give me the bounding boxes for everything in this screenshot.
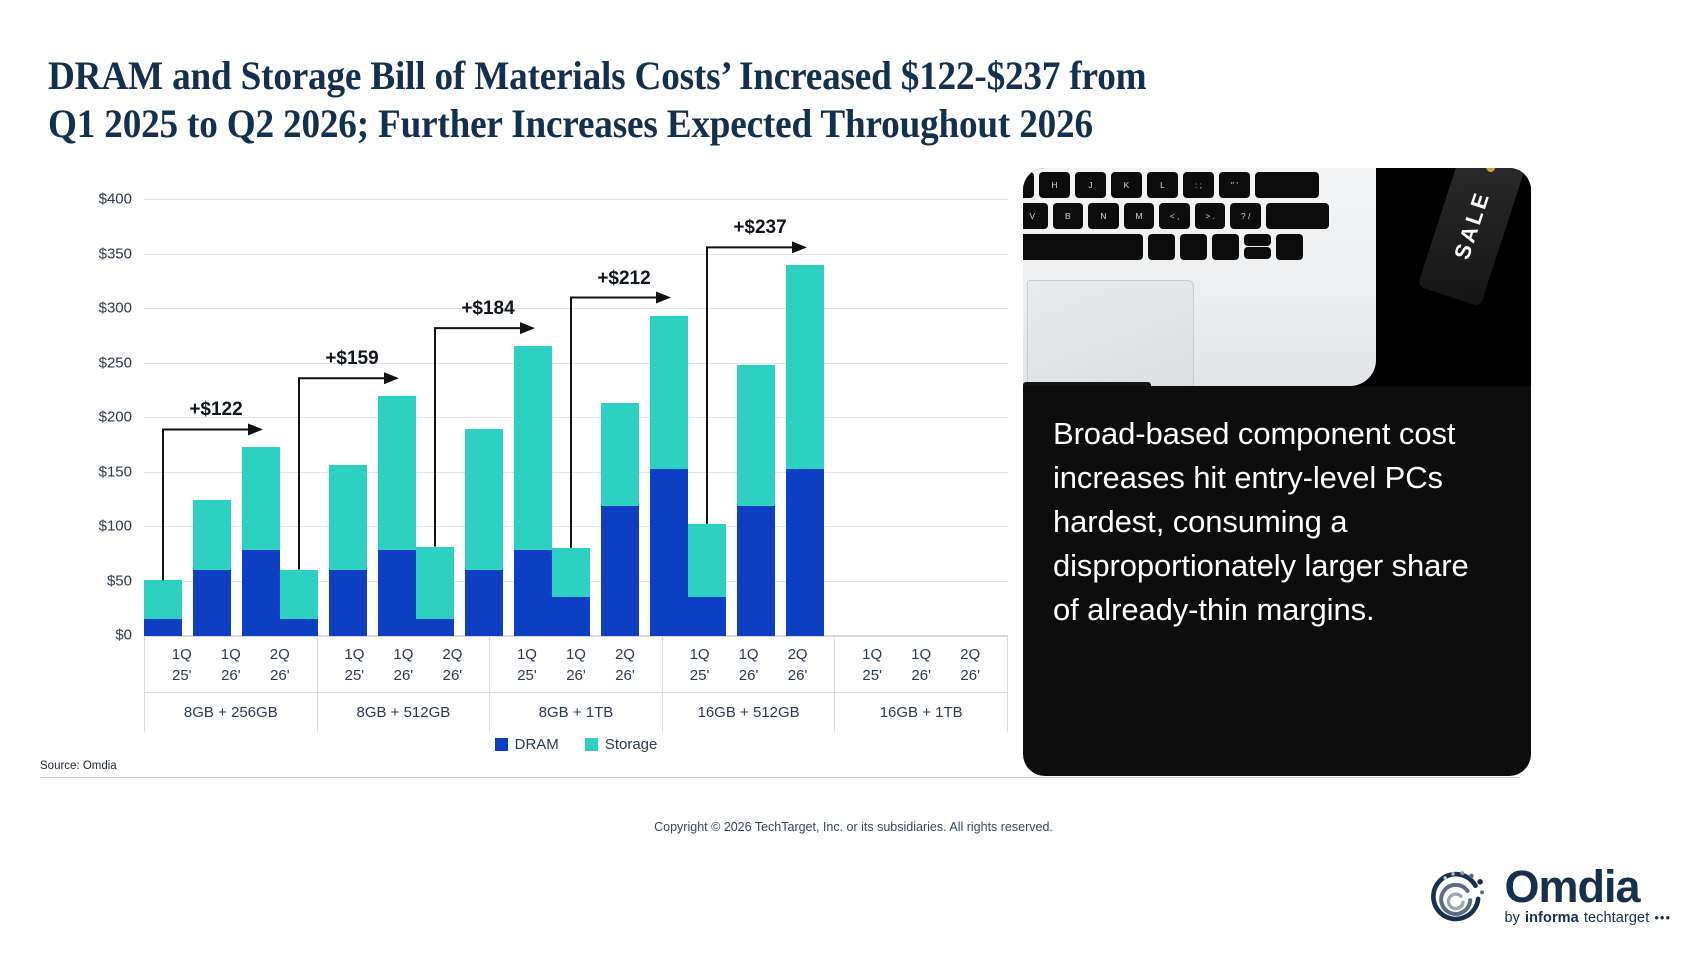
- keyboard-graphic: GHJKL: ;" 'VBNM< ,> .? /: [1023, 172, 1329, 265]
- title-line-2: Q1 2025 to Q2 2026; Further Increases Ex…: [48, 100, 1424, 148]
- axis-quarter-label: 1Q26': [557, 644, 595, 686]
- axis-quarter-row: 1Q25'1Q26'2Q26': [318, 637, 490, 693]
- bar-segment-storage: [144, 580, 182, 618]
- axis-quarter-line-2: 26': [606, 665, 644, 686]
- stacked-bar[interactable]: [465, 429, 503, 636]
- axis-quarter-label: 1Q26': [730, 644, 768, 686]
- axis-quarter-line-1: 1Q: [853, 644, 891, 665]
- bar-segment-storage: [601, 403, 639, 507]
- y-axis-tick-label: $400: [99, 191, 132, 208]
- bar-segment-dram: [144, 619, 182, 636]
- stacked-bar[interactable]: [514, 346, 552, 636]
- logo-dots: •••: [1654, 910, 1671, 925]
- bar-segment-storage: [737, 365, 775, 507]
- bar-segment-dram: [737, 506, 775, 636]
- keyboard-row: VBNM< ,> .? /: [1023, 203, 1329, 229]
- y-axis-tick-label: $300: [99, 300, 132, 317]
- axis-quarter-line-1: 1Q: [384, 644, 422, 665]
- axis-group-cell: 1Q25'1Q26'2Q26'8GB + 256GB: [144, 637, 318, 732]
- keyboard-key: [1255, 172, 1319, 198]
- axis-quarter-line-1: 1Q: [163, 644, 201, 665]
- y-axis-tick-label: $150: [99, 463, 132, 480]
- axis-quarter-row: 1Q25'1Q26'2Q26': [835, 637, 1007, 693]
- bar-segment-dram: [378, 550, 416, 636]
- keyboard-key: L: [1147, 172, 1178, 198]
- axis-quarter-line-2: 26': [557, 665, 595, 686]
- callout-text: Broad-based component cost increases hit…: [1023, 386, 1531, 776]
- stacked-bar[interactable]: [280, 570, 318, 636]
- axis-quarter-line-2: 26': [951, 665, 989, 686]
- stacked-bar[interactable]: [786, 265, 824, 636]
- keyboard-key: H: [1039, 172, 1070, 198]
- keyboard-key: [1266, 203, 1329, 229]
- omdia-wordmark: Omdia by informa techtarget •••: [1504, 865, 1671, 926]
- chart-container: $0$50$100$150$200$250$300$350$400 +$122+…: [40, 176, 1118, 816]
- axis-config-label: 16GB + 1TB: [835, 693, 1007, 732]
- stacked-bar[interactable]: [552, 548, 590, 636]
- bar-segment-dram: [280, 619, 318, 636]
- stacked-bar[interactable]: [601, 403, 639, 636]
- axis-quarter-line-2: 26': [212, 665, 250, 686]
- stacked-bar[interactable]: [650, 316, 688, 636]
- source-label: Source: Omdia: [40, 760, 117, 772]
- legend-item[interactable]: Storage: [585, 736, 658, 753]
- stacked-bar[interactable]: [329, 465, 367, 636]
- axis-group-cell: 1Q25'1Q26'2Q26'16GB + 512GB: [663, 637, 836, 732]
- y-axis-tick-label: $250: [99, 354, 132, 371]
- bar-segment-dram: [416, 619, 454, 636]
- logo-word: Omdia: [1504, 865, 1671, 909]
- keyboard-key: > .: [1195, 203, 1226, 229]
- bar-segment-storage: [552, 548, 590, 597]
- title-line-1: DRAM and Storage Bill of Materials Costs…: [48, 52, 1424, 100]
- axis-quarter-line-2: 26': [261, 665, 299, 686]
- axis-config-label: 8GB + 256GB: [145, 693, 317, 732]
- axis-quarter-line-1: 2Q: [779, 644, 817, 665]
- logo-tagline: by informa techtarget •••: [1504, 910, 1671, 926]
- tag-hole: [1485, 168, 1496, 173]
- stacked-bar[interactable]: [242, 447, 280, 636]
- x-axis-labels: 1Q25'1Q26'2Q26'8GB + 256GB1Q25'1Q26'2Q26…: [144, 636, 1008, 732]
- axis-quarter-line-2: 25': [681, 665, 719, 686]
- axis-quarter-label: 1Q25': [853, 644, 891, 686]
- stacked-bar[interactable]: [144, 580, 182, 636]
- keyboard-key: < ,: [1159, 203, 1190, 229]
- stacked-bar[interactable]: [737, 365, 775, 636]
- axis-quarter-line-2: 26': [384, 665, 422, 686]
- axis-quarter-line-2: 26': [433, 665, 471, 686]
- bar-segment-storage: [280, 570, 318, 619]
- axis-quarter-row: 1Q25'1Q26'2Q26': [663, 637, 835, 693]
- keyboard-key: [1180, 234, 1207, 260]
- keyboard-key: V: [1023, 203, 1048, 229]
- axis-quarter-line-2: 25': [163, 665, 201, 686]
- bar-groups: [144, 200, 1008, 636]
- chart-legend: DRAMStorage: [144, 736, 1008, 753]
- axis-quarter-label: 2Q26': [951, 644, 989, 686]
- keyboard-key: [1148, 234, 1175, 260]
- logo-tag-prefix: by: [1504, 910, 1520, 926]
- keyboard-row: GHJKL: ;" ': [1023, 172, 1329, 198]
- axis-quarter-label: 1Q25': [163, 644, 201, 686]
- bar-segment-storage: [688, 524, 726, 597]
- logo-tag-suffix: techtarget: [1584, 910, 1650, 926]
- legend-swatch: [585, 738, 598, 751]
- bar-segment-storage: [416, 547, 454, 619]
- stacked-bar[interactable]: [378, 396, 416, 636]
- bar-group: [280, 200, 416, 636]
- bar-segment-dram: [242, 550, 280, 636]
- axis-quarter-label: 1Q25': [681, 644, 719, 686]
- bar-group: [688, 200, 824, 636]
- axis-quarter-row: 1Q25'1Q26'2Q26': [490, 637, 662, 693]
- bar-segment-dram: [650, 469, 688, 636]
- axis-quarter-line-2: 25': [853, 665, 891, 686]
- axis-quarter-line-1: 1Q: [212, 644, 250, 665]
- axis-config-label: 16GB + 512GB: [663, 693, 835, 732]
- bar-segment-storage: [242, 447, 280, 549]
- axis-quarter-line-1: 1Q: [335, 644, 373, 665]
- legend-swatch: [495, 738, 508, 751]
- axis-quarter-label: 1Q26': [212, 644, 250, 686]
- sale-tag-text: SALE: [1449, 187, 1496, 262]
- bar-segment-storage: [786, 265, 824, 469]
- keyboard-row: [1023, 234, 1329, 260]
- arrow-right-key: [1276, 234, 1303, 260]
- laptop-image: GHJKL: ;" 'VBNM< ,> .? /: [1023, 168, 1376, 386]
- axis-quarter-line-1: 1Q: [508, 644, 546, 665]
- callout-panel: GHJKL: ;" 'VBNM< ,> .? / SALE Broad-base…: [1023, 168, 1531, 776]
- keyboard-key: G: [1023, 172, 1034, 198]
- slide-root: DRAM and Storage Bill of Materials Costs…: [0, 0, 1707, 960]
- arrow-left-key: [1212, 234, 1239, 260]
- y-axis-tick-label: $350: [99, 245, 132, 262]
- keyboard-key: : ;: [1183, 172, 1214, 198]
- stacked-bar[interactable]: [416, 547, 454, 636]
- arrow-up-key: [1244, 234, 1271, 246]
- arrow-keys-group: [1244, 234, 1271, 259]
- y-axis-tick-label: $50: [107, 572, 132, 589]
- axis-group-cell: 1Q25'1Q26'2Q26'8GB + 1TB: [490, 637, 663, 732]
- keyboard-key: K: [1111, 172, 1142, 198]
- bar-segment-storage: [329, 465, 367, 570]
- axis-quarter-line-1: 2Q: [433, 644, 471, 665]
- bar-segment-dram: [552, 597, 590, 636]
- bar-segment-dram: [786, 469, 824, 636]
- bar-segment-dram: [688, 597, 726, 636]
- keyboard-key: [1023, 234, 1143, 260]
- keyboard-key: M: [1124, 203, 1155, 229]
- bar-group: [552, 200, 688, 636]
- axis-quarter-line-2: 26': [730, 665, 768, 686]
- axis-quarter-line-2: 26': [779, 665, 817, 686]
- legend-item[interactable]: DRAM: [495, 736, 559, 753]
- logo-tag-bold: informa: [1525, 910, 1579, 926]
- stacked-bar[interactable]: [688, 524, 726, 636]
- axis-quarter-label: 2Q26': [261, 644, 299, 686]
- axis-quarter-line-1: 1Q: [681, 644, 719, 665]
- y-axis-tick-label: $100: [99, 518, 132, 535]
- bar-segment-dram: [465, 570, 503, 636]
- axis-group-cell: 1Q25'1Q26'2Q26'16GB + 1TB: [835, 637, 1008, 732]
- axis-quarter-label: 1Q25': [335, 644, 373, 686]
- bar-segment-dram: [329, 570, 367, 636]
- page-title: DRAM and Storage Bill of Materials Costs…: [48, 52, 1424, 148]
- bar-segment-dram: [514, 550, 552, 636]
- keyboard-key: ? /: [1230, 203, 1261, 229]
- keyboard-key: " ': [1219, 172, 1250, 198]
- plot-area: $0$50$100$150$200$250$300$350$400 +$122+…: [144, 200, 1008, 636]
- axis-quarter-line-1: 1Q: [730, 644, 768, 665]
- axis-quarter-row: 1Q25'1Q26'2Q26': [145, 637, 317, 693]
- omdia-swirl-icon: [1424, 862, 1490, 928]
- y-axis-tick-label: $200: [99, 409, 132, 426]
- arrow-down-key: [1244, 247, 1271, 259]
- axis-quarter-line-2: 25': [508, 665, 546, 686]
- stacked-bar[interactable]: [193, 500, 231, 636]
- legend-label: DRAM: [515, 736, 559, 753]
- axis-quarter-line-1: 1Q: [557, 644, 595, 665]
- y-axis-tick-label: $0: [115, 627, 132, 644]
- axis-quarter-label: 2Q26': [433, 644, 471, 686]
- bar-group: [144, 200, 280, 636]
- axis-quarter-line-1: 2Q: [951, 644, 989, 665]
- axis-quarter-label: 1Q25': [508, 644, 546, 686]
- bar-segment-dram: [193, 570, 231, 636]
- keyboard-key: N: [1088, 203, 1119, 229]
- axis-group-cell: 1Q25'1Q26'2Q26'8GB + 512GB: [318, 637, 491, 732]
- axis-config-label: 8GB + 1TB: [490, 693, 662, 732]
- axis-quarter-label: 1Q26': [902, 644, 940, 686]
- axis-quarter-line-2: 25': [335, 665, 373, 686]
- sale-tag-icon: SALE: [1417, 168, 1526, 307]
- axis-quarter-line-1: 2Q: [261, 644, 299, 665]
- bar-segment-storage: [650, 316, 688, 470]
- footer-copyright: Copyright © 2026 TechTarget, Inc. or its…: [0, 820, 1707, 834]
- laptop-sale-photo: GHJKL: ;" 'VBNM< ,> .? / SALE: [1023, 168, 1531, 386]
- axis-quarter-line-1: 1Q: [902, 644, 940, 665]
- bar-segment-storage: [465, 429, 503, 570]
- bar-segment-storage: [378, 396, 416, 550]
- axis-quarter-line-1: 2Q: [606, 644, 644, 665]
- bar-group: [416, 200, 552, 636]
- bar-segment-dram: [601, 506, 639, 636]
- axis-quarter-label: 2Q26': [779, 644, 817, 686]
- axis-quarter-label: 2Q26': [606, 644, 644, 686]
- bar-segment-storage: [514, 346, 552, 550]
- keyboard-key: J: [1075, 172, 1106, 198]
- legend-label: Storage: [605, 736, 658, 753]
- axis-config-label: 8GB + 512GB: [318, 693, 490, 732]
- omdia-logo: Omdia by informa techtarget •••: [1424, 862, 1671, 928]
- trackpad-graphic: [1027, 280, 1194, 386]
- axis-quarter-label: 1Q26': [384, 644, 422, 686]
- axis-quarter-line-2: 26': [902, 665, 940, 686]
- bar-segment-storage: [193, 500, 231, 570]
- keyboard-key: B: [1053, 203, 1084, 229]
